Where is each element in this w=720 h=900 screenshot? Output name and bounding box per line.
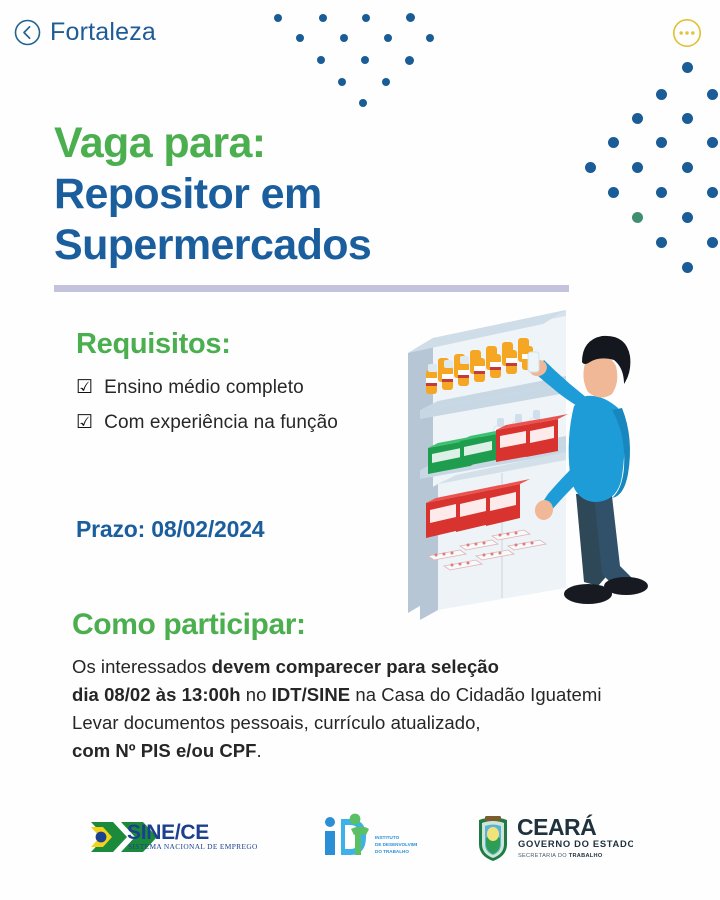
svg-text:DE DESENVOLVIMENTO: DE DESENVOLVIMENTO — [375, 842, 417, 847]
requirements-block: Requisitos: ☑ Ensino médio completo ☑ Co… — [76, 328, 338, 447]
svg-text:SECRETARIA DO TRABALHO: SECRETARIA DO TRABALHO — [518, 853, 603, 859]
job-title-line1: Vaga para: — [54, 118, 371, 169]
how-to-participate-block: Como participar: Os interessados devem c… — [72, 608, 698, 765]
how-to-line-4: com Nº PIS e/ou CPF. — [72, 737, 698, 765]
how-to-line2-bold-org: IDT/SINE — [272, 684, 351, 705]
ceara-government-logo: CEARÁ GOVERNO DO ESTADO SECRETARIA DO TR… — [473, 810, 633, 864]
how-to-line-2: dia 08/02 às 13:00h no IDT/SINE na Casa … — [72, 681, 698, 709]
svg-text:DO TRABALHO: DO TRABALHO — [375, 849, 409, 854]
svg-text:CEARÁ: CEARÁ — [517, 813, 596, 840]
dot-pattern-right — [560, 40, 720, 280]
how-to-line-1: Os interessados devem comparecer para se… — [72, 653, 698, 681]
svg-text:SISTEMA NACIONAL DE EMPREGO: SISTEMA NACIONAL DE EMPREGO — [128, 842, 258, 851]
how-to-line2-normal-a: no — [241, 684, 272, 705]
how-to-heading: Como participar: — [72, 608, 698, 642]
job-title-line3: Supermercados — [54, 220, 371, 271]
job-title-block: Vaga para: Repositor em Supermercados — [54, 118, 371, 271]
how-to-line1-bold: devem comparecer para seleção — [212, 656, 499, 677]
checked-checkbox-icon: ☑ — [76, 412, 93, 434]
how-to-line-3: Levar documentos pessoais, currículo atu… — [72, 709, 698, 737]
page-title: Fortaleza — [50, 18, 156, 47]
deadline-label: Prazo: 08/02/2024 — [76, 516, 264, 543]
app-header: Fortaleza — [14, 18, 156, 47]
supermarket-shelf-stocker-illustration — [398, 298, 698, 633]
checked-checkbox-icon: ☑ — [76, 377, 93, 399]
footer-logos: SINE/CE SISTEMA NACIONAL DE EMPREGO INST… — [0, 810, 720, 864]
how-to-line1-normal: Os interessados — [72, 656, 212, 677]
requirement-item: ☑ Com experiência na função — [76, 412, 338, 434]
title-divider — [54, 285, 569, 292]
svg-text:INSTITUTO: INSTITUTO — [375, 835, 400, 840]
how-to-line2-bold-date: dia 08/02 às 13:00h — [72, 684, 241, 705]
svg-text:GOVERNO DO ESTADO: GOVERNO DO ESTADO — [518, 838, 633, 849]
more-options-icon[interactable] — [672, 18, 702, 48]
idt-logo: INSTITUTO DE DESENVOLVIMENTO DO TRABALHO — [321, 813, 417, 861]
how-to-line4-bold: com Nº PIS e/ou CPF — [72, 740, 257, 761]
requirements-heading: Requisitos: — [76, 328, 338, 361]
job-title-line2: Repositor em — [54, 169, 371, 220]
sine-ce-logo: SINE/CE SISTEMA NACIONAL DE EMPREGO — [87, 814, 265, 860]
requirement-label: Com experiência na função — [104, 412, 338, 434]
back-chevron-circle-icon[interactable] — [14, 19, 41, 46]
how-to-line4-normal: . — [257, 740, 262, 761]
requirement-label: Ensino médio completo — [104, 377, 304, 399]
how-to-line2-normal-b: na Casa do Cidadão Iguatemi — [350, 684, 601, 705]
requirement-item: ☑ Ensino médio completo — [76, 377, 338, 399]
svg-text:SINE/CE: SINE/CE — [127, 821, 209, 844]
